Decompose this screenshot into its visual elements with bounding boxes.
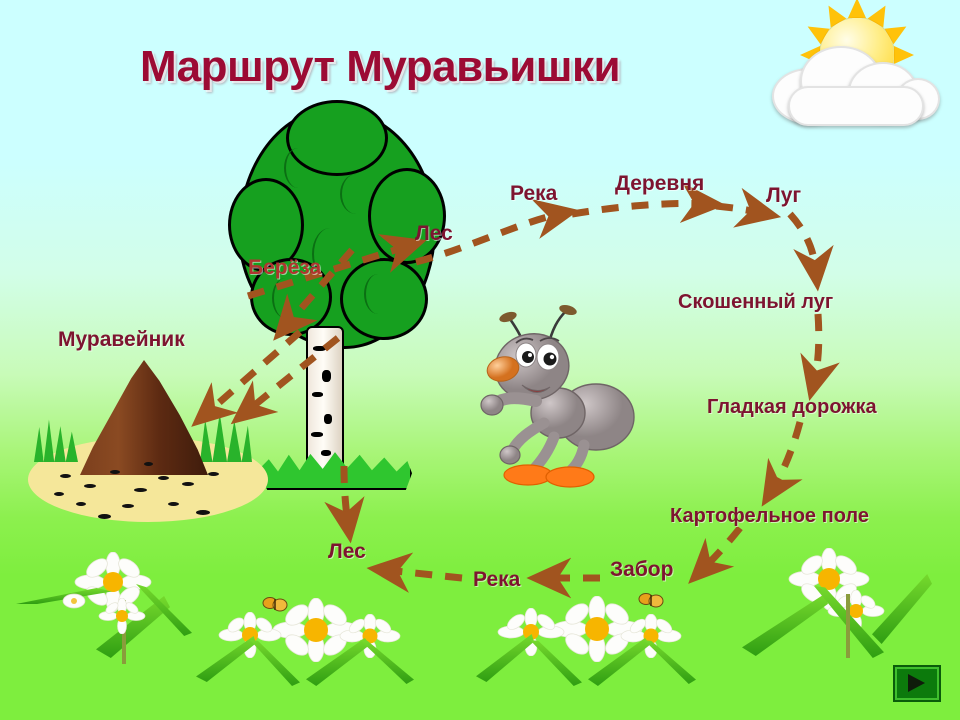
- daisy-icon: [216, 612, 284, 658]
- route-label-derevnya: Деревня: [615, 172, 704, 196]
- daisy-icon: [96, 598, 148, 634]
- slide-canvas: Маршрут Муравьишки: [0, 0, 960, 720]
- route-label-dorozhka: Гладкая дорожка: [707, 396, 877, 419]
- arrow-kartofel-zabor: [702, 528, 740, 570]
- arrow-lug-skoshenny: [790, 214, 816, 272]
- route-label-bereza: Берёза: [248, 256, 321, 280]
- arrow-skoshenny-dorozhka: [814, 314, 819, 382]
- route-label-lug: Луг: [766, 184, 801, 208]
- arrow-trunk-les: [344, 466, 348, 524]
- route-label-kartofel: Картофельное поле: [670, 505, 869, 528]
- arrow-anthill-1: [206, 332, 300, 414]
- next-slide-button[interactable]: [893, 665, 941, 702]
- arrow-reka-les: [386, 570, 462, 578]
- route-label-zabor: Забор: [610, 558, 673, 582]
- route-label-skoshenny: Скошенный луг: [678, 291, 833, 314]
- arrow-dorozhka-kartofel: [772, 422, 800, 490]
- route-label-les-bot: Лес: [328, 540, 366, 564]
- route-label-reka-bot: Река: [473, 568, 520, 592]
- daisy-bud: [62, 592, 86, 610]
- butterfly-icon: [262, 596, 288, 614]
- daisy-icon: [496, 608, 566, 656]
- play-next-icon: [908, 674, 925, 692]
- arrow-reka-derevnya: [572, 203, 706, 214]
- route-label-les-top: Лес: [415, 222, 453, 246]
- arrow-anthill-2: [246, 338, 338, 412]
- route-label-muraveynik: Муравейник: [58, 328, 185, 352]
- butterfly-icon: [638, 592, 664, 610]
- route-label-reka-top: Река: [510, 182, 557, 206]
- flower-stem: [846, 594, 850, 658]
- arrow-derevnya-lug: [716, 206, 762, 213]
